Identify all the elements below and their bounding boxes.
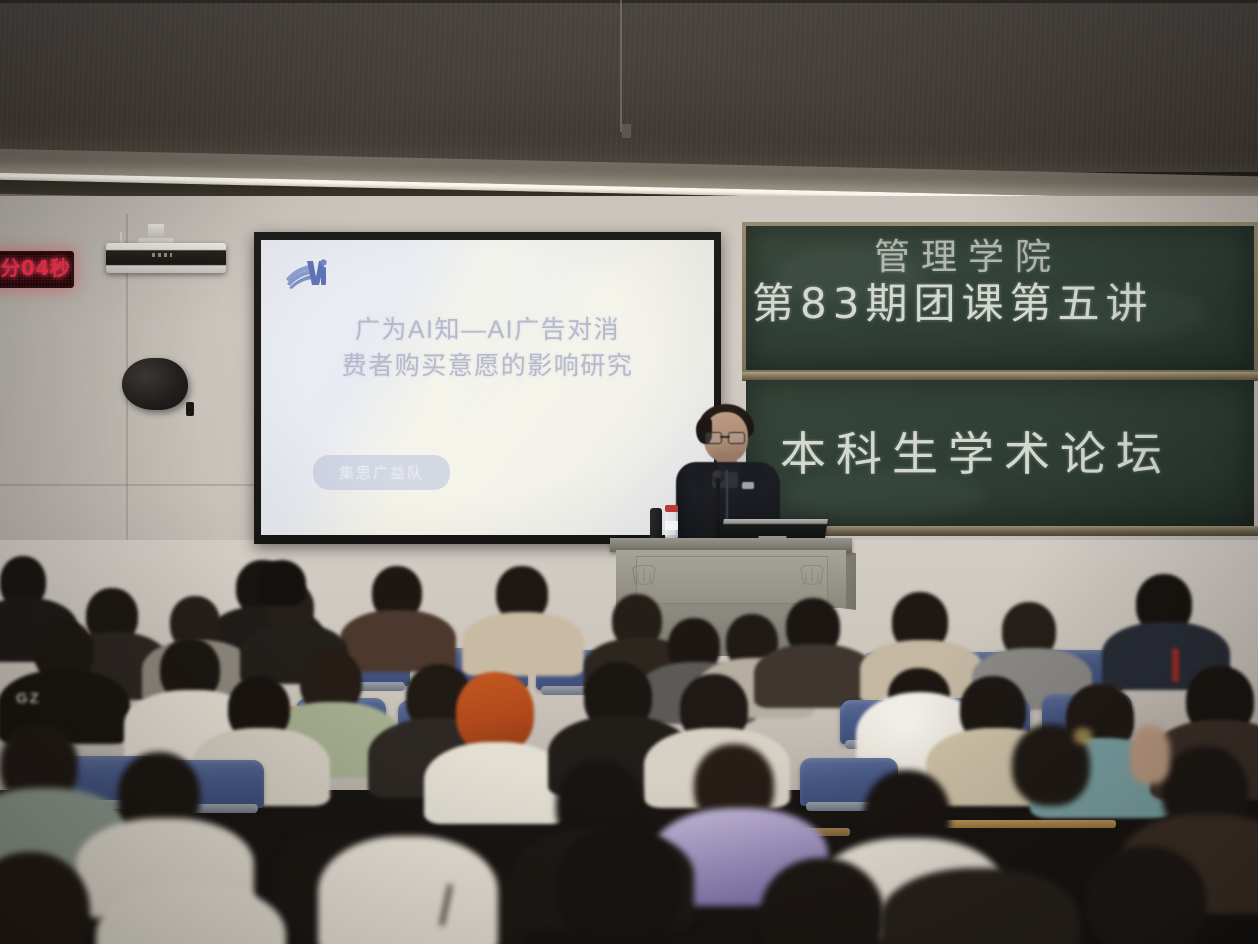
ceiling-hanger-clip: [622, 124, 631, 138]
projection-screen-frame: 广为AI知—AI广告对消 费者购买意愿的影响研究 集思广益队: [254, 232, 721, 544]
blackboard-forum-title: 本科生学术论坛: [780, 418, 1172, 484]
microphone-stem: [716, 478, 720, 540]
water-bottle-label: [665, 521, 678, 530]
blackboard-upper-panel: 管理学院 第83期团课第五讲: [746, 226, 1254, 370]
lecture-hall-photo: 4分04秒 广为AI知—AI广告对消 费者购买意愿的影响研究 集思广益队: [0, 0, 1258, 944]
ceiling: [0, 0, 1258, 172]
blackboard-frame-bottom: 本科生学术论坛: [742, 380, 1258, 534]
dark-cylinder-object: [650, 508, 662, 540]
blackboard: 管理学院 第83期团课第五讲 本科生学术论坛: [742, 222, 1258, 544]
led-ticker: 4分04秒: [0, 251, 74, 288]
presenter-glasses-icon: [705, 432, 745, 442]
led-dot-matrix: [0, 253, 72, 286]
water-bottle-cap: [665, 505, 678, 512]
beanie-hat: [258, 560, 306, 606]
blackboard-lower-panel: 本科生学术论坛: [746, 380, 1254, 526]
jacket-print-text: GZ: [16, 690, 80, 712]
shoulders-white-puffer: [318, 836, 498, 944]
ceiling-hanger-rod: [620, 0, 622, 132]
raised-hand: [1130, 726, 1170, 784]
head: [1086, 846, 1206, 944]
projector-indicator-lights: [152, 253, 172, 257]
hair-clip: [1074, 728, 1092, 744]
shoulders-beige-coat: [462, 612, 584, 676]
speaker-icon: [122, 358, 188, 410]
speaker-bracket: [186, 402, 194, 416]
shoulders: [424, 742, 568, 824]
presenter-jacket-logo: [742, 482, 754, 489]
projector-icon: [106, 243, 226, 273]
shoulders-brown-coat: [340, 610, 456, 672]
wall-panel-seam: [0, 484, 254, 486]
screen-vignette: [261, 240, 714, 535]
blackboard-heading-line2: 第83期团课第五讲: [752, 270, 1153, 331]
podium-panel-inset: [636, 556, 828, 604]
projection-screen: 广为AI知—AI广告对消 费者购买意愿的影响研究 集思广益队: [261, 240, 714, 535]
jacket-red-stripe: [1172, 648, 1179, 682]
shoulders: [754, 644, 876, 708]
ceiling-seam: [0, 0, 1258, 3]
head: [556, 826, 682, 944]
ceiling-texture: [0, 0, 1258, 172]
